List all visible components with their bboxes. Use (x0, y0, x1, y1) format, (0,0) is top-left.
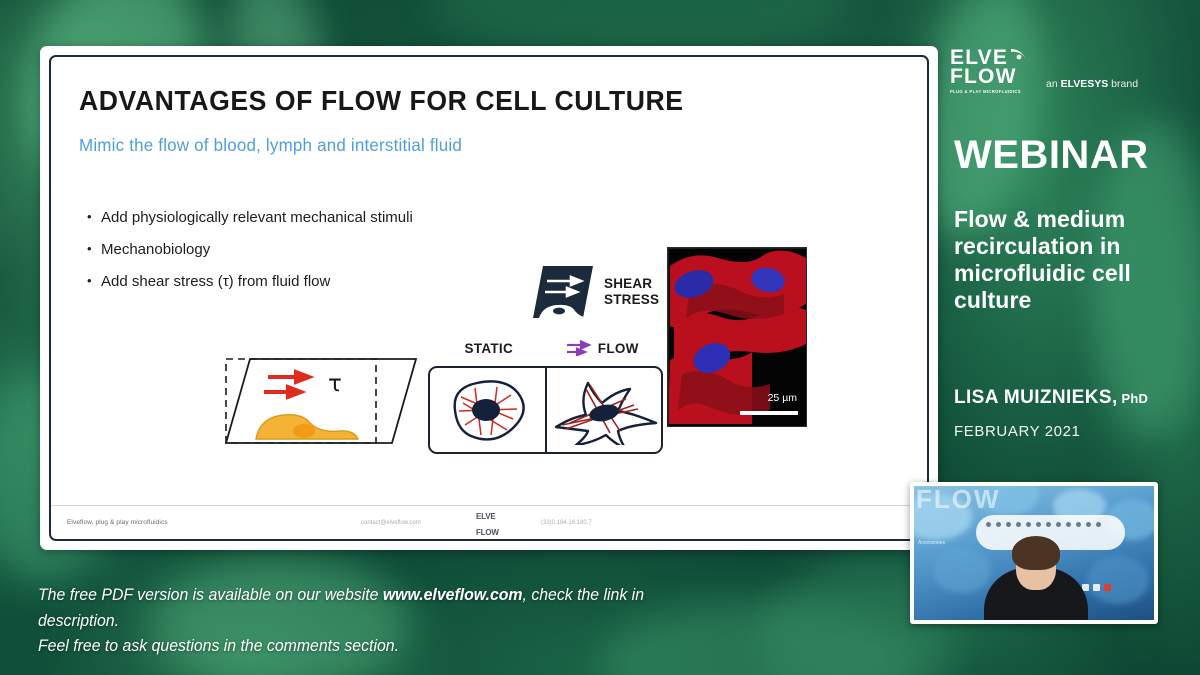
fluorescence-micrograph: 25 µm (667, 247, 807, 427)
brand-prefix: an (1046, 78, 1061, 90)
bullet-item: • Mechanobiology (87, 241, 413, 259)
brand-name: ELVESYS (1061, 78, 1109, 90)
logo-line2: FLOW (950, 67, 1032, 86)
flow-heading: FLOW (546, 340, 660, 356)
caption-line1-pre: The free PDF version is available on our… (38, 586, 383, 604)
speaker-name: LISA MUIZNIEKS, PhD (954, 387, 1148, 409)
flow-cell-illustration (547, 368, 662, 452)
bullet-text: Mechanobiology (101, 241, 210, 259)
static-label: STATIC (432, 341, 546, 356)
shear-stress-label-line1: SHEAR (604, 276, 659, 292)
webinar-date: FEBRUARY 2021 (954, 423, 1080, 440)
presentation-slide: ADVANTAGES OF FLOW FOR CELL CULTURE Mimi… (40, 46, 938, 550)
webcam-background-social-icons (1082, 584, 1111, 591)
footer-tagline: Elveflow, plug & play microfluidics (67, 519, 168, 526)
webcam-background-sidelabel: Accessories (918, 540, 945, 546)
brand-suffix: brand (1108, 78, 1138, 90)
flow-label: FLOW (598, 341, 639, 356)
bullet-text: Add shear stress (τ) from fluid flow (101, 273, 330, 291)
bullet-marker-icon: • (87, 273, 101, 289)
logo-swoosh-icon (1010, 45, 1028, 63)
caption-line2: Feel free to ask questions in the commen… (38, 637, 399, 655)
svg-text:τ: τ (328, 371, 342, 397)
footer-logo-line1: ELVE (476, 512, 496, 521)
static-vs-flow-comparison: STATIC FLOW (428, 335, 663, 457)
speaker-fullname: LISA MUIZNIEKS, (954, 387, 1118, 408)
shear-stress-panel-icon (531, 264, 595, 320)
speaker-degree: PhD (1118, 391, 1148, 406)
shear-stress-parallelogram-diagram: τ (216, 345, 426, 457)
bullet-list: • Add physiologically relevant mechanica… (87, 209, 413, 305)
bullet-item: • Add physiologically relevant mechanica… (87, 209, 413, 227)
footer-logo: ELVE FLOW (476, 507, 499, 539)
bullet-marker-icon: • (87, 209, 101, 225)
bullet-marker-icon: • (87, 241, 101, 257)
slide-title: ADVANTAGES OF FLOW FOR CELL CULTURE (79, 85, 684, 117)
footer-email: contact@elveflow.com (361, 520, 421, 526)
bullet-text: Add physiologically relevant mechanical … (101, 209, 413, 227)
footer-phone: (33)0.184.16.180.7 (541, 520, 592, 526)
webcam-background-logos (986, 522, 1118, 527)
webinar-kicker: WEBINAR (954, 133, 1149, 178)
video-caption: The free PDF version is available on our… (38, 583, 729, 660)
slide-footer: Elveflow, plug & play microfluidics cont… (51, 505, 927, 539)
bullet-item: • Add shear stress (τ) from fluid flow (87, 273, 413, 291)
footer-logo-line2: FLOW (476, 528, 499, 537)
shear-stress-label: SHEAR STRESS (604, 276, 659, 308)
webcam-video: FLOW Accessories (914, 486, 1154, 620)
static-cell-illustration (430, 368, 547, 452)
webcam-background-text: FLOW (916, 486, 1001, 515)
slide-subtitle: Mimic the flow of blood, lymph and inter… (79, 135, 462, 156)
flow-arrows-icon (566, 340, 592, 356)
presenter-avatar (993, 542, 1079, 620)
elveflow-logo: ELVE FLOW PLUG & PLAY MICROFLUIDICS (950, 48, 1032, 94)
brand-attribution: an ELVESYS brand (1046, 78, 1138, 90)
micrograph-scale-label: 25 µm (768, 392, 797, 404)
shear-stress-label-line2: STRESS (604, 292, 659, 308)
presenter-webcam-inset[interactable]: FLOW Accessories (910, 482, 1158, 624)
micrograph-scale-bar (740, 411, 798, 415)
webinar-talk-title: Flow & medium recirculation in microflui… (954, 206, 1186, 314)
logo-tagline: PLUG & PLAY MICROFLUIDICS (950, 89, 1032, 94)
caption-website-link[interactable]: www.elveflow.com (383, 586, 523, 604)
